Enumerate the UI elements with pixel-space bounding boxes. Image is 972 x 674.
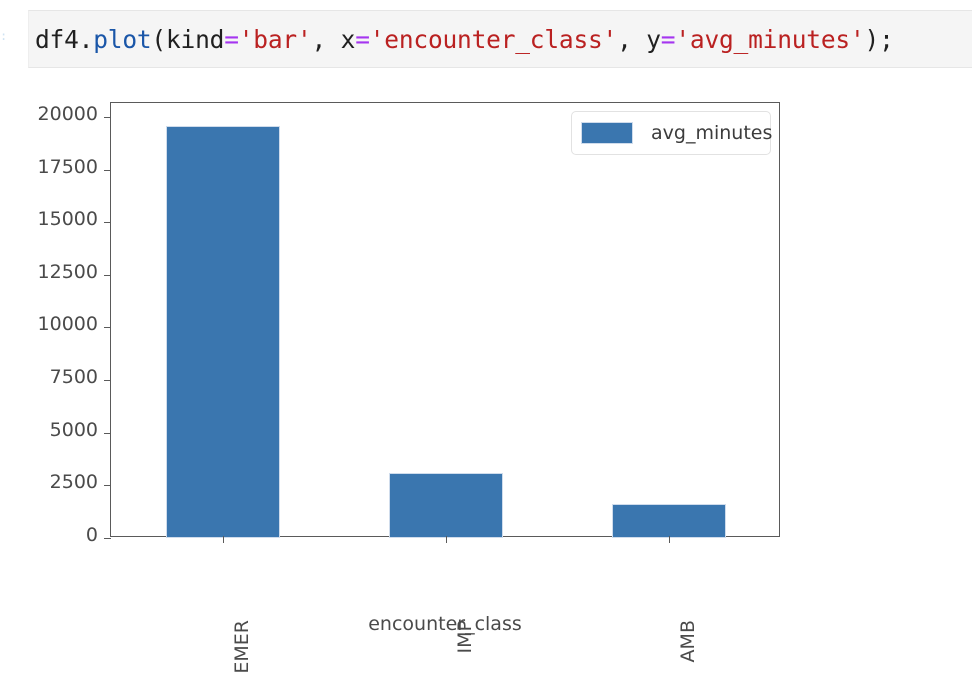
y-tick-label: 5000 <box>50 419 98 441</box>
y-tick-mark <box>104 117 111 118</box>
y-tick-mark <box>104 433 111 434</box>
code-token-string: 'avg_minutes' <box>675 25 864 54</box>
bar-emer <box>166 126 280 538</box>
y-tick-mark <box>104 222 111 223</box>
y-tick-label: 2500 <box>50 471 98 493</box>
code-token-name: kind <box>166 25 224 54</box>
legend-entry-label: avg_minutes <box>651 122 772 144</box>
x-tick-mark <box>223 536 224 543</box>
code-token-op: = <box>355 25 370 54</box>
code-token-punct: ) <box>865 25 880 54</box>
y-tick-mark <box>104 275 111 276</box>
y-axis-tick-labels: 02500500075001000012500150001750020000 <box>0 102 98 537</box>
y-tick-label: 10000 <box>38 313 98 335</box>
cell-execution-marker: : <box>0 33 6 47</box>
y-tick-mark <box>104 380 111 381</box>
code-token-name: y <box>646 25 661 54</box>
code-input-area[interactable]: df4.plot(kind='bar', x='encounter_class'… <box>28 10 972 68</box>
code-token-name: df4 <box>35 25 79 54</box>
bar-amb <box>612 504 726 538</box>
matplotlib-figure: 02500500075001000012500150001750020000 a… <box>0 80 972 674</box>
code-token-punct: . <box>79 25 94 54</box>
code-token-op: = <box>661 25 676 54</box>
plot-axes: avg_minutes <box>110 102 780 537</box>
x-axis-title: encounter_class <box>110 613 780 635</box>
y-tick-label: 12500 <box>38 261 98 283</box>
code-token-string: 'encounter_class' <box>370 25 617 54</box>
code-line[interactable]: df4.plot(kind='bar', x='encounter_class'… <box>35 25 894 55</box>
y-tick-label: 7500 <box>50 366 98 388</box>
code-token-name: x <box>341 25 356 54</box>
code-token-func: plot <box>93 25 151 54</box>
x-tick-mark <box>446 536 447 543</box>
code-token-punct: , <box>617 25 646 54</box>
y-tick-label: 20000 <box>38 103 98 125</box>
code-token-punct: ; <box>879 25 894 54</box>
bars-container <box>111 103 779 536</box>
code-token-punct: ( <box>151 25 166 54</box>
y-tick-label: 17500 <box>38 156 98 178</box>
code-token-punct: , <box>312 25 341 54</box>
y-tick-mark <box>104 170 111 171</box>
y-tick-mark <box>104 327 111 328</box>
y-tick-mark <box>104 485 111 486</box>
chart-legend[interactable]: avg_minutes <box>571 111 771 155</box>
notebook-code-cell: : df4.plot(kind='bar', x='encounter_clas… <box>0 0 972 80</box>
y-tick-label: 0 <box>86 524 98 546</box>
code-token-string: 'bar' <box>239 25 312 54</box>
legend-color-swatch <box>581 122 633 144</box>
y-tick-label: 15000 <box>38 208 98 230</box>
y-tick-mark <box>104 538 111 539</box>
code-token-op: = <box>224 25 239 54</box>
x-tick-mark <box>669 536 670 543</box>
bar-imp <box>389 473 503 538</box>
